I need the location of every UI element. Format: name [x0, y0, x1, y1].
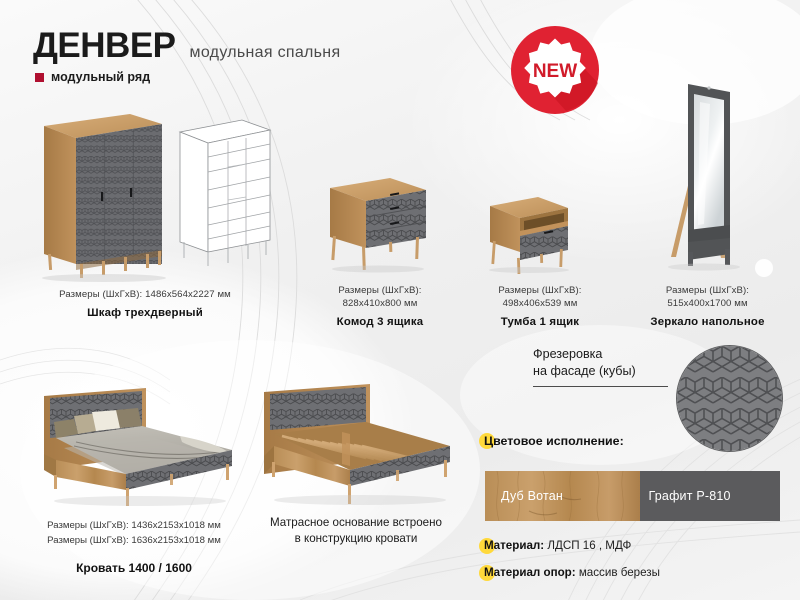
- dimension-line-1600: Размеры (ШхГхВ): 1636x2153x1018 мм: [18, 533, 250, 548]
- dimension-line: Размеры (ШхГхВ):: [620, 284, 795, 297]
- dimension-line: Размеры (ШхГхВ):: [460, 284, 620, 297]
- product-name: Комод 3 ящика: [300, 316, 460, 328]
- milling-line-2: на фасаде (кубы): [533, 363, 673, 380]
- colour-heading-rest: ветовое исполнение:: [493, 434, 624, 448]
- product-image-floor-mirror: [648, 62, 760, 281]
- dimension-line: Размеры (ШхГхВ): 1486x564x2227 мм: [20, 288, 270, 301]
- milling-divider: [533, 386, 668, 387]
- series-tag-square-icon: [35, 73, 44, 82]
- dimension-line: Размеры (ШхГхВ):: [300, 284, 460, 297]
- swatch-label: Дуб Вотан: [485, 489, 563, 503]
- material-label-first: М: [484, 566, 494, 579]
- brand-name: ДЕНВЕР: [33, 26, 176, 66]
- new-badge: NEW: [506, 21, 604, 119]
- product-name: Кровать 1400 / 1600: [18, 561, 250, 575]
- product-image-bed-frame-slats: [250, 378, 470, 513]
- product-name: Зеркало напольное: [620, 316, 795, 328]
- dimension-line: 498x406x539 мм: [460, 297, 620, 310]
- caption-nightstand: Размеры (ШхГхВ): 498x406x539 мм Тумба 1 …: [460, 284, 620, 328]
- product-image-wardrobe-3-door: [22, 104, 172, 287]
- material-main: М атериал: ЛДСП 16 , МДФ: [484, 539, 631, 552]
- colour-swatches: Дуб Вотан Графит Р-810: [485, 471, 780, 521]
- material-label-first: М: [484, 539, 494, 552]
- swatch-graphite: Графит Р-810: [633, 471, 781, 521]
- dimension-line: 515x400x1700 мм: [620, 297, 795, 310]
- product-name: Шкаф трехдверный: [20, 307, 270, 319]
- series-tag-label: модульный ряд: [51, 70, 150, 84]
- product-diagram-wardrobe-interior: [172, 112, 278, 279]
- material-value: массив березы: [576, 566, 660, 579]
- material-value: ЛДСП 16 , МДФ: [544, 539, 631, 552]
- caption-wardrobe: Размеры (ШхГхВ): 1486x564x2227 мм Шкаф т…: [20, 288, 270, 319]
- note-line-1: Матрасное основание встроено: [240, 515, 472, 531]
- swatch-label: Графит Р-810: [633, 489, 731, 503]
- caption-dresser: Размеры (ШхГхВ): 828x410x800 мм Комод 3 …: [300, 284, 460, 328]
- material-legs: М атериал опор: массив березы: [484, 566, 660, 579]
- mattress-base-note: Матрасное основание встроено в конструкц…: [240, 515, 472, 547]
- brand-subtitle: модульная спальня: [190, 44, 341, 62]
- note-line-2: в конструкцию кровати: [240, 531, 472, 547]
- cube-milling-swatch-icon: [676, 345, 783, 452]
- caption-mirror: Размеры (ШхГхВ): 515x400x1700 мм Зеркало…: [620, 284, 795, 328]
- page-title: ДЕНВЕР модульная спальня: [33, 26, 340, 66]
- catalog-page: ДЕНВЕР модульная спальня модульный ряд N…: [0, 0, 800, 600]
- colour-heading: Ц ветовое исполнение:: [484, 434, 624, 448]
- milling-label: Фрезеровка на фасаде (кубы): [533, 346, 673, 387]
- material-label-rest: атериал опор:: [494, 566, 576, 579]
- colour-heading-first: Ц: [484, 434, 493, 448]
- swatch-oak-votan: Дуб Вотан: [485, 471, 633, 521]
- material-label-rest: атериал:: [494, 539, 544, 552]
- product-image-nightstand-1-drawer: [476, 190, 580, 279]
- dimension-line-1400: Размеры (ШхГхВ): 1436x2153x1018 мм: [18, 518, 250, 533]
- series-tag: модульный ряд: [35, 70, 150, 84]
- product-name: Тумба 1 ящик: [460, 316, 620, 328]
- product-image-dresser-3-drawer: [316, 168, 436, 279]
- product-image-bed-made: [30, 378, 250, 513]
- caption-bed: Размеры (ШхГхВ): 1436x2153x1018 мм Разме…: [18, 518, 250, 575]
- milling-line-1: Фрезеровка: [533, 346, 673, 363]
- new-badge-text: NEW: [533, 61, 577, 82]
- dimension-line: 828x410x800 мм: [300, 297, 460, 310]
